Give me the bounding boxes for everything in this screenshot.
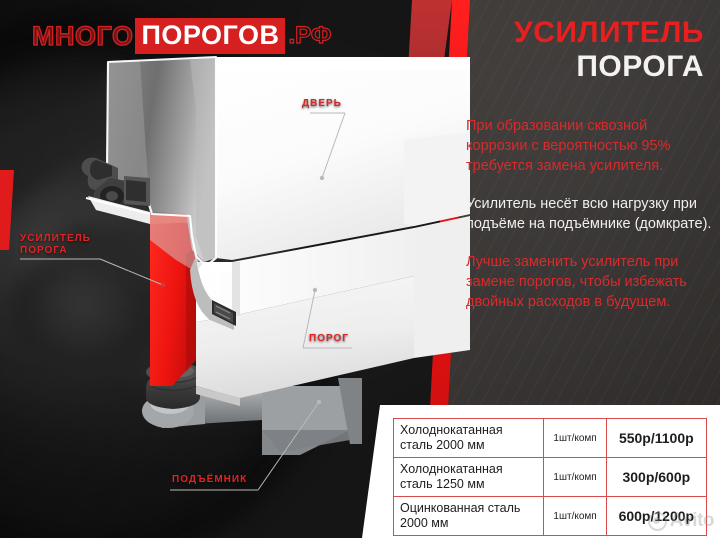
promo-banner: МНОГО ПОРОГОВ .РФ ДВЕРЬ УСИЛИТЕЛЬ ПОРОГА… <box>0 0 720 538</box>
price-table-body: Холоднокатанная сталь 2000 мм 1шт/комп 5… <box>394 419 707 536</box>
brand-logo[interactable]: МНОГО ПОРОГОВ .РФ <box>32 18 331 54</box>
headline-line2: ПОРОГА <box>466 50 710 84</box>
logo-word-porogov: ПОРОГОВ <box>135 18 285 54</box>
row-price: 300р/600р <box>606 458 706 497</box>
logo-word-mnogo: МНОГО <box>32 21 133 52</box>
body-copy: При образовании сквозной коррозии с веро… <box>466 116 712 330</box>
row-quantity: 1шт/комп <box>544 458 606 497</box>
callout-lift-label: ПОДЪЁМНИК <box>172 474 247 486</box>
paragraph-corrosion: При образовании сквозной коррозии с веро… <box>466 116 712 176</box>
paragraph-load: Усилитель несёт всю нагрузку при подъёме… <box>466 194 712 234</box>
row-material: Оцинкованная сталь 2000 мм <box>394 497 544 536</box>
table-row: Холоднокатанная сталь 1250 мм 1шт/комп 3… <box>394 458 707 497</box>
table-row: Холоднокатанная сталь 2000 мм 1шт/комп 5… <box>394 419 707 458</box>
callout-reinforcer: УСИЛИТЕЛЬ ПОРОГА <box>20 233 91 257</box>
logo-word-rf: .РФ <box>288 22 331 50</box>
callout-reinforcer-label-line2: ПОРОГА <box>20 245 91 257</box>
callout-lift: ПОДЪЁМНИК <box>172 474 247 486</box>
row-quantity: 1шт/комп <box>544 497 606 536</box>
price-table-panel: Холоднокатанная сталь 2000 мм 1шт/комп 5… <box>380 405 720 538</box>
callout-sill: ПОРОГ <box>309 333 349 345</box>
headline-line1: УСИЛИТЕЛЬ <box>466 16 710 50</box>
table-row: Оцинкованная сталь 2000 мм 1шт/комп 600р… <box>394 497 707 536</box>
callout-door-label: ДВЕРЬ <box>302 98 342 110</box>
callout-reinforcer-label-line1: УСИЛИТЕЛЬ <box>20 233 91 245</box>
row-quantity: 1шт/комп <box>544 419 606 458</box>
row-price: 600р/1200р <box>606 497 706 536</box>
row-material: Холоднокатанная сталь 2000 мм <box>394 419 544 458</box>
price-table: Холоднокатанная сталь 2000 мм 1шт/комп 5… <box>393 418 707 536</box>
row-price: 550р/1100р <box>606 419 706 458</box>
paragraph-advice: Лучше заменить усилитель при замене поро… <box>466 252 712 312</box>
row-material: Холоднокатанная сталь 1250 мм <box>394 458 544 497</box>
headline: УСИЛИТЕЛЬ ПОРОГА <box>466 16 710 84</box>
callout-sill-label: ПОРОГ <box>309 333 349 345</box>
callout-door: ДВЕРЬ <box>302 98 342 110</box>
